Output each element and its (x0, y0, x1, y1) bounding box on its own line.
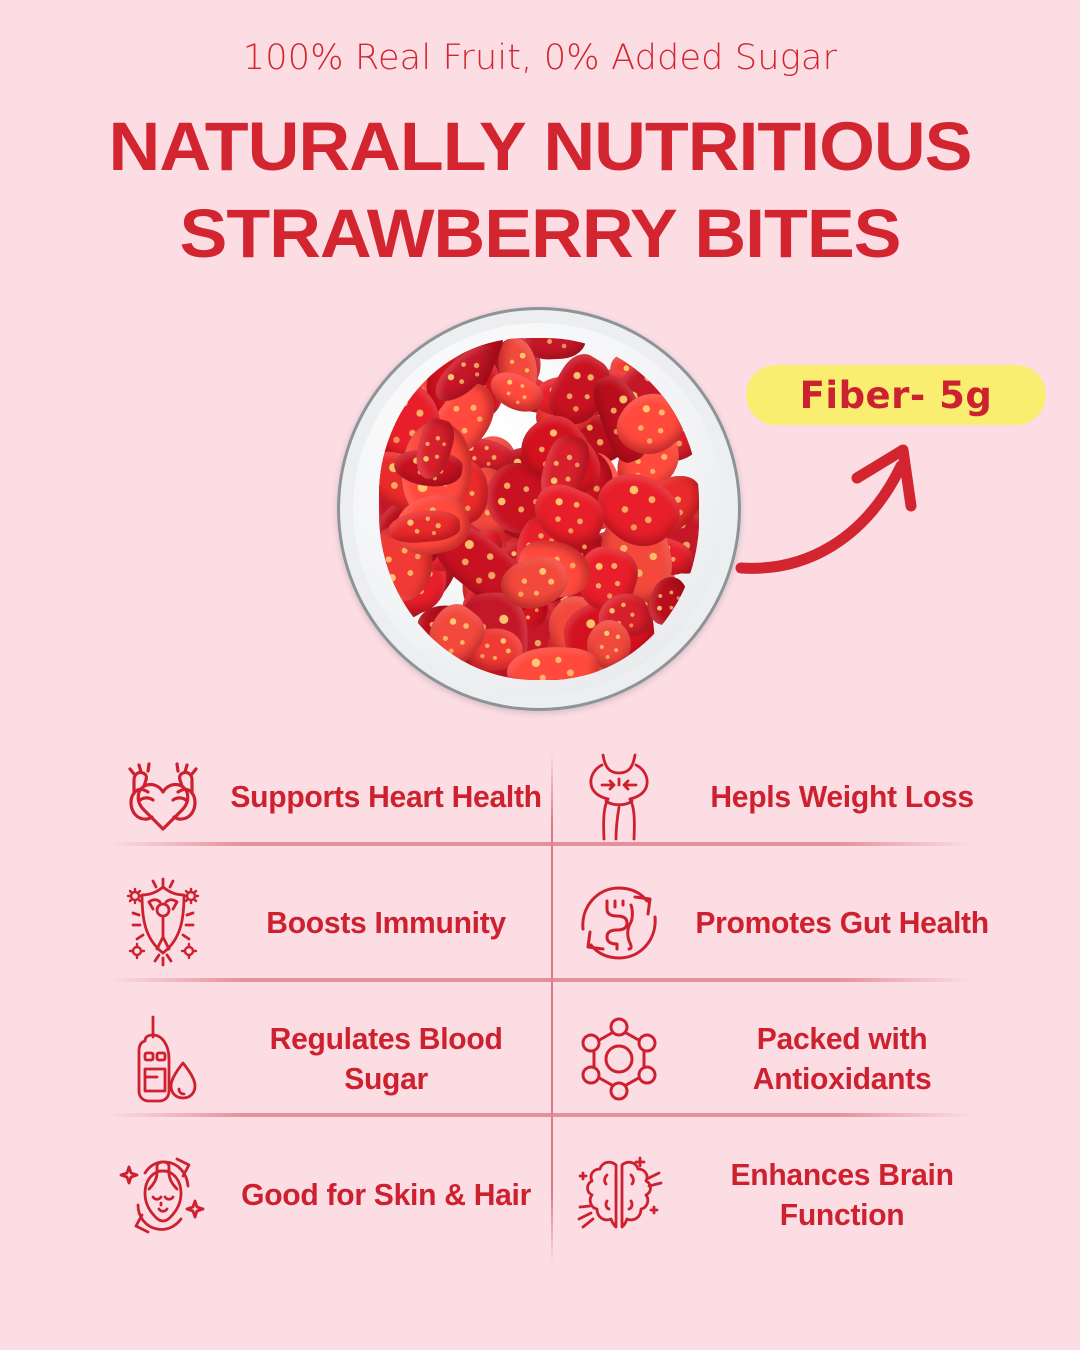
subtitle: 100% Real Fruit, 0% Added Sugar (0, 38, 1080, 78)
benefit-label: Good for Skin & Hair (227, 1175, 551, 1215)
benefit-item-supports-heart-health: Supports Heart Health (104, 738, 556, 856)
benefit-label: Hepls Weight Loss (683, 777, 1007, 817)
benefit-item-good-for-skin-and-hair: Good for Skin & Hair (104, 1136, 556, 1254)
benefit-label: Boosts Immunity (227, 903, 551, 943)
shield-person-icon (104, 873, 222, 973)
bowl-icon (337, 307, 741, 711)
brain-icon (560, 1145, 678, 1245)
benefit-item-packed-with-antioxidants: Packed with Antioxidants (560, 1000, 1012, 1118)
benefit-item-boosts-immunity: Boosts Immunity (104, 864, 556, 982)
infographic-canvas: 100% Real Fruit, 0% Added Sugar NATURALL… (0, 0, 1080, 1350)
benefit-label: Packed with Antioxidants (683, 1019, 1007, 1100)
fiber-badge-label: Fiber- 5g (800, 374, 993, 417)
benefit-item-hepls-weight-loss: Hepls Weight Loss (560, 738, 1012, 856)
benefit-label: Enhances Brain Function (683, 1155, 1007, 1236)
benefit-item-enhances-brain-function: Enhances Brain Function (560, 1136, 1012, 1254)
page-title-line2: STRAWBERRY BITES (0, 194, 1080, 273)
waist-slimming-icon (560, 747, 678, 847)
benefits-grid: Supports Heart Health (0, 738, 1080, 1278)
fiber-badge: Fiber- 5g (746, 365, 1046, 425)
intestine-refresh-icon (560, 873, 678, 973)
heart-muscle-icon (104, 747, 222, 847)
benefit-label: Supports Heart Health (227, 777, 551, 817)
glucometer-icon (104, 1009, 222, 1109)
benefit-item-regulates-blood-sugar: Regulates Blood Sugar (104, 1000, 556, 1118)
dried-strawberry-pile (379, 338, 699, 680)
page-title-line1: NATURALLY NUTRITIOUS (0, 107, 1080, 186)
product-image (337, 307, 741, 711)
face-refresh-icon (104, 1145, 222, 1245)
bowl-interior (353, 323, 725, 695)
curved-arrow-icon (735, 420, 955, 590)
benefit-item-promotes-gut-health: Promotes Gut Health (560, 864, 1012, 982)
benefit-label: Promotes Gut Health (683, 903, 1007, 943)
molecule-icon (560, 1009, 678, 1109)
benefit-label: Regulates Blood Sugar (227, 1019, 551, 1100)
